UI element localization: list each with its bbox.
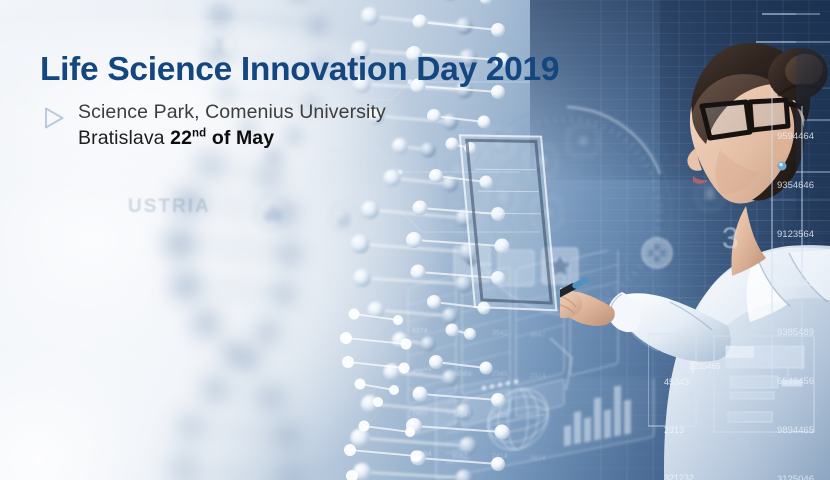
hud-data-grid-col1: 6374 45677 7807 95894 69894 8598 9878: [412, 298, 431, 480]
page-title: Life Science Innovation Day 2019: [40, 52, 559, 88]
banner-text-block: Life Science Innovation Day 2019 Science…: [40, 52, 559, 151]
hud-data-grid-col2: 1234 34564 34542 9082 79827 3452 24370: [452, 300, 471, 480]
hud-data-grid-col4: 9047 2314 3215 5674 9807 3411 2098: [530, 302, 546, 480]
banner-city: Bratislava: [78, 127, 165, 149]
event-banner: USTRIA 9594464 9354646 9123564 9595648 9…: [0, 0, 830, 480]
banner-city-date: Bratislava 22nd of May: [78, 126, 386, 151]
hud-panel-tag-value: 3235465: [689, 362, 720, 371]
hud-big-digit: 3: [722, 222, 739, 256]
hud-number-column-right: 9594464 9354646 9123564 9595648 9385489 …: [777, 96, 814, 480]
hud-panel-tag-value-2: 45323867058: [700, 438, 749, 447]
banner-subtitle-lines: Science Park, Comenius University Bratis…: [78, 100, 386, 152]
play-triangle-icon: [42, 105, 66, 131]
map-label-austria: USTRIA: [128, 196, 211, 218]
banner-date: 22nd of May: [170, 127, 274, 149]
banner-venue: Science Park, Comenius University: [78, 100, 386, 125]
hud-data-grid-col3: 3542 2345 3496 2414 3409 4671 2349: [492, 300, 508, 480]
banner-subtitle-group: Science Park, Comenius University Bratis…: [40, 100, 559, 152]
